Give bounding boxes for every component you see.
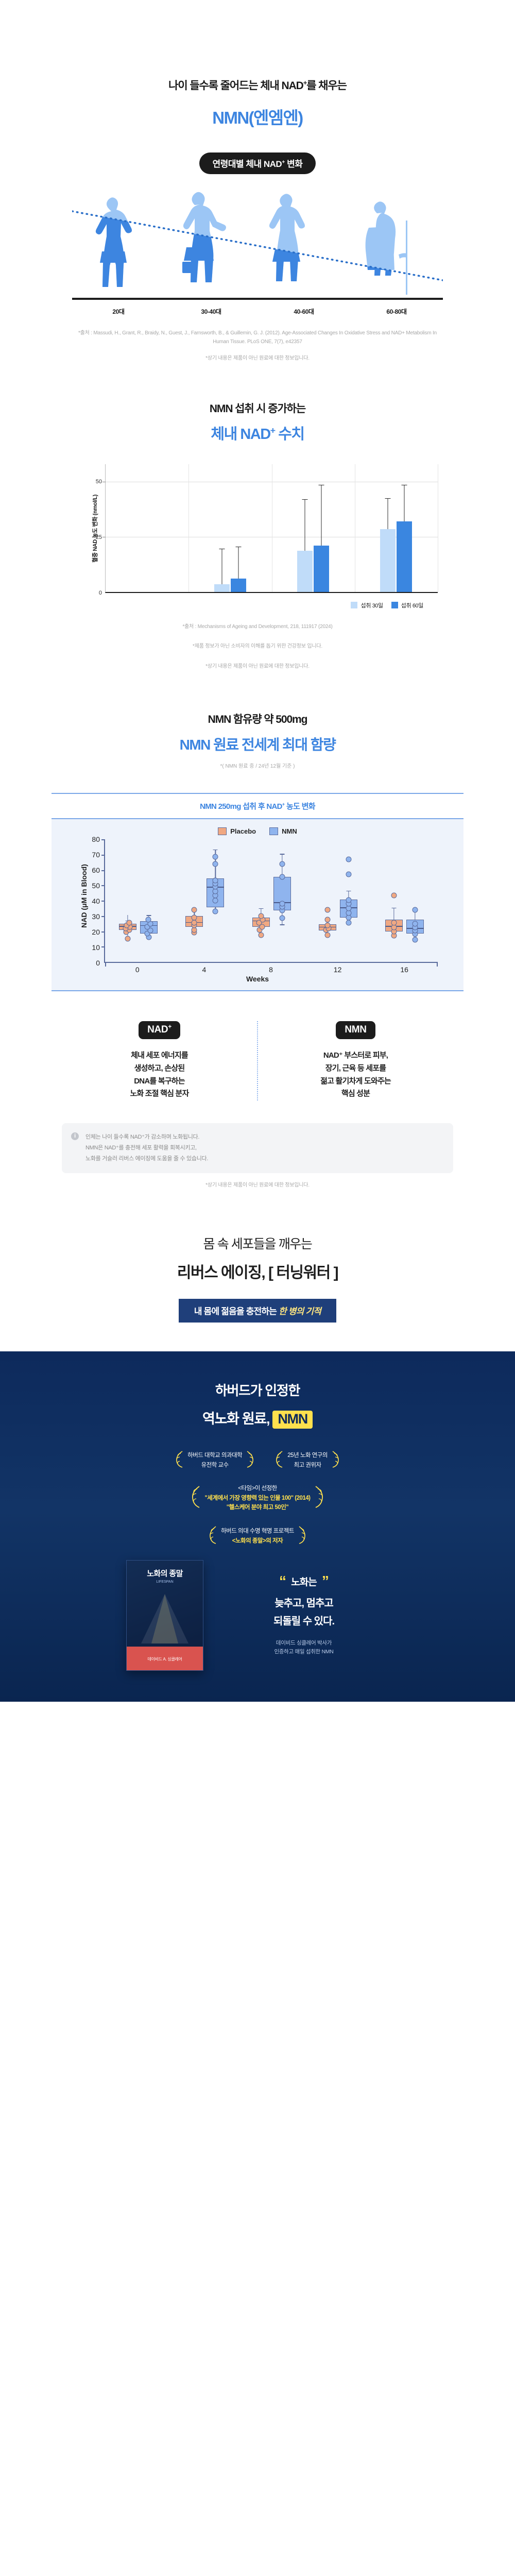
boxplot-pair [171, 839, 238, 962]
quote-line-1-wrap: “ 노화는 ” [219, 1574, 389, 1588]
reverse-aging-ribbon-wrap: 내 몸에 젊음을 충전하는 한 병의 기적 [0, 1282, 515, 1323]
note-line-3: 노화를 거슬러 리버스 에이징에 도움을 줄 수 있습니다. [85, 1154, 443, 1164]
nmn-desc-line-1: NAD⁺ 부스터로 피부, [268, 1049, 443, 1062]
age-chart-source-footnote: *출처 : Massudi, H., Grant, R., Braidy, N.… [77, 329, 438, 346]
boxplot-body: Placebo NMN NAD (μM in Blood) 80 70 60 5… [51, 819, 463, 990]
boxplot-col-nmn [207, 839, 224, 962]
boxplot-ytick-60: 60 [92, 866, 100, 874]
boxplot-ylabel: NAD (μM in Blood) [77, 839, 89, 963]
whisker-cap-upper [346, 891, 351, 891]
boxplot-ytick-20: 20 [92, 928, 100, 936]
legend-label-60d: 섭취 60일 [401, 601, 423, 609]
quote-footnote: 데이비드 싱클레어 박사가 인증하고 매일 섭취한 NMN [219, 1639, 389, 1657]
silhouette-illustration [72, 190, 443, 298]
boxplot-group-week-16 [371, 839, 438, 962]
nmn-desc-line-4: 핵심 성분 [268, 1088, 443, 1100]
data-point [125, 936, 131, 942]
age-label-60s80s: 60-80대 [350, 307, 443, 316]
data-point [192, 907, 197, 912]
boxplot-tickmark-40 [101, 901, 105, 902]
age-chart-xaxis-labels: 20대 30-40대 40-60대 60-80대 [72, 307, 443, 316]
nmn-desc-line-3: 젊고 활기차게 도와주는 [268, 1075, 443, 1088]
ribbon-highlight: 한 병의 기적 [279, 1307, 321, 1316]
data-point [126, 920, 132, 926]
boxplot-legend-nmn: NMN [269, 827, 297, 835]
hero-headline-text: 나이 들수록 줄어드는 체내 NAD [168, 80, 303, 92]
nad-increase-section: NMN 섭취 시 증가하는 체내 NAD+ 수치 혈중 NAD 농도 변화 (n… [0, 363, 515, 671]
laurel-1-line-2: 유전학 교수 [201, 1462, 229, 1468]
laurel-row-2: <타임>이 선정한 "세계에서 가장 영향력 있는 인물 100" (2014)… [62, 1484, 453, 1512]
data-point [391, 892, 397, 898]
data-point [346, 872, 351, 877]
boxplot-xaxis-start-tick [105, 962, 106, 967]
boxplot-pair [105, 839, 171, 962]
laurel-leaf-right-icon [298, 1526, 306, 1547]
boxplot-tickmark-20 [101, 931, 105, 933]
bar-errorbar-30d [221, 549, 222, 584]
bar-chart-disclaimer-2: *상기 내용은 제품이 아닌 원료에 대한 정보입니다. [0, 663, 515, 671]
compare-disclaimer: *상기 내용은 제품이 아닌 원료에 대한 정보입니다. [0, 1181, 515, 1190]
bar-ytick-0: 0 [99, 590, 102, 596]
nmn-description: NAD⁺ 부스터로 피부, 장기, 근육 등 세포를 젊고 활기차게 도와주는 … [268, 1049, 443, 1100]
laurel-credential-3: <타임>이 선정한 "세계에서 가장 영향력 있는 인물 100" (2014)… [191, 1484, 323, 1512]
book-cover: 노화의 종말 LIFESPAN 데이비드 A. 싱클레어 [126, 1560, 203, 1671]
harvard-credentials: 하버드 대학교 의과대학 유전학 교수 25년 노화 연구의 최고 권위자 [62, 1450, 453, 1547]
nad-desc-line-3: DNA를 복구하는 [72, 1075, 247, 1088]
note-line-2: NMN은 NAD⁺를 충전해 세포 활력을 회복시키고, [85, 1143, 443, 1154]
data-point [213, 854, 218, 860]
quote-line-1: 노화는 [291, 1574, 317, 1588]
data-point [324, 932, 330, 938]
legend-swatch-60d [391, 602, 398, 608]
laurel-1-line-1: 하버드 대학교 의과대학 [187, 1452, 242, 1459]
boxplot-ylabel-text: NAD (μM in Blood) [80, 857, 88, 935]
data-point [346, 920, 351, 926]
bar-holder-30d [297, 464, 313, 592]
boxplot-xtick-8: 8 [237, 965, 304, 974]
bar-group-1 [106, 464, 188, 592]
boxplot-col-nmn [273, 839, 291, 962]
whisker-cap-upper [259, 908, 263, 909]
laurel-3-text: <타임>이 선정한 "세계에서 가장 영향력 있는 인물 100" (2014)… [204, 1484, 310, 1512]
hero-headline: 나이 들수록 줄어드는 체내 NAD+를 채우는 [0, 77, 515, 93]
reverse-aging-ribbon: 내 몸에 젊음을 충전하는 한 병의 기적 [179, 1299, 336, 1323]
reverse-aging-line-1: 몸 속 세포들을 깨우는 [0, 1234, 515, 1252]
bar-chart-plot [105, 464, 438, 593]
laurel-leaf-left-icon [275, 1450, 283, 1470]
harvard-section: 하버드가 인정한 역노화 원료, NMN 하버드 대학교 의과대학 유전학 교수 [0, 1351, 515, 1702]
bar-legend-item-30d: 섭취 30일 [351, 601, 383, 609]
whisker-cap-upper [147, 915, 151, 916]
sinclair-quote: “ 노화는 ” 늦추고, 멈추고 되돌릴 수 있다. 데이비드 싱클레어 박사가… [219, 1574, 389, 1657]
bar-holder-30d [214, 464, 230, 592]
boxplot-col-nmn [140, 839, 158, 962]
bar-group-2 [188, 464, 271, 592]
whisker-cap-lower [280, 924, 284, 925]
boxplot-tickmark-10 [101, 946, 105, 947]
age-chart-pill: 연령대별 체내 NAD+ 변화 [199, 152, 316, 174]
bar-group-4 [355, 464, 438, 592]
age-chart-baseline [72, 298, 443, 300]
laurel-3-line-2: "세계에서 가장 영향력 있는 인물 100" (2014) [204, 1495, 310, 1501]
boxplot-group-week-4 [171, 839, 238, 962]
reverse-aging-line-2: 리버스 에이징, [ 터닝워터 ] [0, 1260, 515, 1282]
data-point [192, 920, 197, 926]
data-point [258, 913, 264, 919]
bar-chart-ylabel: 혈중 NAD 농도 변화 (nmol/L) [77, 464, 91, 593]
age-chart-pill-suffix: 변화 [285, 159, 303, 169]
legend-label-30d: 섭취 30일 [360, 601, 383, 609]
laurel-4-line-1: 하버드 의대 수명 혁명 프로젝트 [221, 1528, 294, 1534]
data-point [213, 898, 218, 904]
boxplot-xlabel: Weeks [51, 975, 463, 983]
bar-legend-item-60d: 섭취 60일 [391, 601, 423, 609]
nad-plus-superscript: + [270, 425, 275, 435]
silhouette-group-60s80s [366, 201, 407, 295]
boxplot-tickmark-30 [101, 916, 105, 917]
nmn-tag: NMN [336, 1021, 375, 1039]
bar-chart-source-footnote: *출처 : Mechanisms of Ageing and Developme… [0, 623, 515, 632]
harvard-line-2: 역노화 원료, NMN [0, 1408, 515, 1429]
bar-errorbar-30d [305, 499, 305, 551]
ribbon-text: 내 몸에 젊음을 충전하는 [194, 1307, 279, 1316]
boxplot-ytick-40: 40 [92, 897, 100, 905]
harvard-line-2-text: 역노화 원료, [202, 1411, 272, 1427]
boxplot-panel-title: NMN 250mg 섭취 후 NAD+ 농도 변화 [51, 794, 463, 819]
bar-errorbar-60d [321, 485, 322, 546]
nad-tag: NAD+ [139, 1021, 180, 1039]
book-author: 데이비드 A. 싱클레어 [127, 1656, 203, 1662]
boxplot-legend-placebo: Placebo [218, 827, 256, 835]
boxplot-col-nmn [406, 839, 424, 962]
bar-ytick-50: 50 [96, 479, 102, 485]
data-point [213, 861, 218, 867]
boxplot-ytick-50: 50 [92, 882, 100, 890]
laurel-row-3: 하버드 의대 수명 혁명 프로젝트 <노화의 종말>의 저자 [62, 1526, 453, 1547]
laurel-leaf-left-icon [209, 1526, 217, 1547]
data-point [279, 901, 285, 906]
laurel-4-text: 하버드 의대 수명 혁명 프로젝트 <노화의 종말>의 저자 [221, 1527, 294, 1546]
age-label-30s40s: 30-40대 [165, 307, 257, 316]
boxplot-col-placebo [319, 839, 336, 962]
nad-tag-label: NAD [147, 1024, 168, 1035]
compare-columns: NAD+ 체내 세포 에너지를 생성하고, 손상된 DNA를 복구하는 노화 조… [62, 1021, 453, 1100]
bar-30d [214, 584, 230, 592]
boxplot-xtick-0: 0 [104, 965, 171, 974]
boxplot-pair [238, 839, 304, 962]
age-chart-pill-label: 연령대별 체내 NAD [213, 159, 282, 169]
laurel-leaf-right-icon [332, 1450, 340, 1470]
quote-footnote-line-1: 데이비드 싱클레어 박사가 [276, 1640, 332, 1646]
boxplot-groups [105, 839, 438, 962]
age-label-20s: 20대 [72, 307, 165, 316]
laurel-3-line-3: "헬스케어 분야 최고 50인" [227, 1504, 289, 1511]
quote-footnote-line-2: 인증하고 매일 섭취한 NMN [274, 1649, 333, 1655]
boxplot-xaxis-end-tick [437, 962, 438, 967]
boxplot-tickmark-70 [101, 855, 105, 856]
nmn-500-subnote: *( NMN 원료 중 / 24년 12월 기준 ) [0, 761, 515, 769]
silhouette-group-40s60s [269, 194, 305, 281]
book-subtitle: LIFESPAN [127, 1580, 203, 1584]
nad-desc-line-1: 체내 세포 에너지를 [72, 1049, 247, 1062]
boxplot-ytick-30: 30 [92, 912, 100, 921]
boxplot-group-week-8 [238, 839, 304, 962]
whisker-upper [393, 908, 394, 920]
whisker-cap-upper [391, 908, 396, 908]
boxplot-pair [371, 839, 438, 962]
data-point [213, 878, 218, 884]
age-chart-pill-wrap: 연령대별 체내 NAD+ 변화 [0, 152, 515, 174]
bar-60d [397, 521, 412, 592]
laurel-leaf-left-icon [175, 1450, 183, 1470]
nad-plus-superscript: + [168, 1024, 171, 1030]
book-beam-inner [151, 1594, 178, 1643]
boxplot-xticks: 0 4 8 12 16 [77, 965, 438, 974]
book-and-quote: 노화의 종말 LIFESPAN 데이비드 A. 싱클레어 “ 노화는 ” 늦추고… [62, 1560, 453, 1671]
quote-close-mark: ” [322, 1577, 329, 1586]
nad-nmn-compare-section: NAD+ 체내 세포 에너지를 생성하고, 손상된 DNA를 복구하는 노화 조… [0, 991, 515, 1190]
boxplot-col-placebo [252, 839, 270, 962]
boxplot-tickmark-60 [101, 870, 105, 871]
laurel-2-line-2: 최고 권위자 [294, 1462, 321, 1468]
bar-60d [314, 546, 329, 592]
boxplot-col-placebo [385, 839, 403, 962]
boxplot-xtick-4: 4 [171, 965, 238, 974]
hero-title: NMN(엔엠엔) [0, 104, 515, 129]
bar-chart-disclaimer-1: *제품 정보가 아닌 소비자의 이해를 돕기 위한 건강정보 입니다. [0, 642, 515, 651]
age-nad-chart-section: 연령대별 체내 NAD+ 변화 [0, 152, 515, 363]
bar-holder-60d [314, 464, 329, 592]
silhouette-svg [72, 190, 443, 298]
nmn-500-title-2: NMN 원료 전세계 최대 함량 [0, 734, 515, 754]
nmn-highlight-badge: NMN [272, 1411, 313, 1429]
data-point [412, 907, 418, 912]
hero-headline-suffix: 를 채우는 [306, 80, 347, 92]
boxplot-xtick-12: 12 [304, 965, 371, 974]
nad-bar-chart: 혈중 NAD 농도 변화 (nmol/L) 50 25 0 [77, 464, 438, 593]
boxplot-ytick-70: 70 [92, 851, 100, 859]
legend-label-nmn: NMN [282, 827, 297, 835]
nad-boxplot-panel: NMN 250mg 섭취 후 NAD+ 농도 변화 Placebo NMN NA… [51, 793, 463, 991]
bar-vgridline-4 [438, 464, 438, 592]
harvard-line-1: 하버드가 인정한 [0, 1380, 515, 1399]
data-point [192, 914, 197, 920]
data-point [412, 921, 418, 926]
bar-30d [297, 551, 313, 591]
age-label-40s60s: 40-60대 [257, 307, 350, 316]
nmn-500mg-section: NMN 함유량 약 500mg NMN 원료 전세계 최대 함량 *( NMN … [0, 671, 515, 769]
nmn-desc-line-2: 장기, 근육 등 세포를 [268, 1062, 443, 1075]
compare-col-nmn: NMN NAD⁺ 부스터로 피부, 장기, 근육 등 세포를 젊고 활기차게 도… [258, 1021, 453, 1100]
data-point [279, 861, 285, 867]
nad-desc-line-2: 생성하고, 손상된 [72, 1062, 247, 1075]
data-point [412, 937, 418, 942]
data-point [324, 917, 330, 923]
data-point [324, 922, 330, 928]
legend-label-placebo: Placebo [230, 827, 256, 835]
bar-section-title-2: 체내 NAD+ 수치 [0, 422, 515, 444]
bar-chart-yticks: 50 25 0 [91, 464, 105, 593]
legend-swatch-placebo [218, 827, 227, 835]
boxplot-chart: NAD (μM in Blood) 80 70 60 50 40 30 20 1… [77, 839, 438, 963]
laurel-4-line-2: <노화의 종말>의 저자 [232, 1538, 283, 1544]
boxplot-tickmark-50 [101, 885, 105, 886]
laurel-leaf-right-icon [315, 1485, 324, 1511]
boxplot-legend: Placebo NMN [51, 827, 463, 835]
data-point [258, 932, 264, 938]
boxplot-tickmark-80 [101, 839, 105, 840]
laurel-credential-4: 하버드 의대 수명 혁명 프로젝트 <노화의 종말>의 저자 [209, 1526, 306, 1547]
boxplot-pair [305, 839, 371, 962]
laurel-leaf-left-icon [191, 1485, 200, 1511]
boxplot-title-text: NMN 250mg 섭취 후 NAD [200, 802, 282, 811]
whisker-cap-upper [213, 850, 218, 850]
laurel-2-text: 25년 노화 연구의 최고 권위자 [287, 1451, 328, 1470]
data-point [279, 874, 285, 879]
bar-group-3 [272, 464, 355, 592]
quote-open-mark: “ [279, 1577, 286, 1586]
data-point [346, 897, 351, 903]
bar-ytick-25: 25 [96, 534, 102, 540]
data-point [346, 856, 351, 862]
boxplot-group-week-0 [105, 839, 171, 962]
boxplot-col-placebo [119, 839, 136, 962]
bar-section-title-2-suffix: 수치 [275, 426, 304, 443]
silhouette-fill-overlay [96, 192, 396, 287]
boxplot-group-week-12 [305, 839, 371, 962]
reverse-aging-section: 몸 속 세포들을 깨우는 리버스 에이징, [ 터닝워터 ] 내 몸에 젊음을 … [0, 1190, 515, 1351]
hero-section: 나이 들수록 줄어드는 체내 NAD+를 채우는 NMN(엔엠엔) [0, 0, 515, 129]
info-icon: i [71, 1132, 79, 1140]
legend-swatch-30d [351, 602, 357, 608]
nad-description: 체내 세포 에너지를 생성하고, 손상된 DNA를 복구하는 노화 조절 핵심 … [72, 1049, 247, 1100]
bar-holder-60d [397, 464, 412, 592]
boxplot-plot-area [104, 839, 438, 963]
bar-60d [231, 579, 246, 592]
laurel-row-1: 하버드 대학교 의과대학 유전학 교수 25년 노화 연구의 최고 권위자 [62, 1450, 453, 1470]
laurel-3-line-1: <타임>이 선정한 [238, 1485, 277, 1492]
bar-errorbar-60d [238, 547, 238, 579]
data-point [213, 908, 218, 914]
quote-line-3: 되돌릴 수 있다. [219, 1613, 389, 1628]
bar-section-title-2-text: 체내 NAD [211, 426, 270, 443]
boxplot-ytick-0: 0 [96, 959, 100, 967]
laurel-credential-2: 25년 노화 연구의 최고 권위자 [275, 1450, 340, 1470]
bar-30d [380, 529, 396, 592]
book-title: 노화의 종말 [127, 1568, 203, 1579]
info-note-box: i 인체는 나이 들수록 NAD⁺가 감소하며 노화됩니다. NMN은 NAD⁺… [62, 1123, 453, 1173]
quote-line-2: 늦추고, 멈추고 [219, 1595, 389, 1609]
bar-errorbar-60d [404, 485, 405, 521]
bar-holder-30d [380, 464, 396, 592]
note-line-1: 인체는 나이 들수록 NAD⁺가 감소하며 노화됩니다. [85, 1132, 443, 1143]
laurel-1-text: 하버드 대학교 의과대학 유전학 교수 [187, 1451, 242, 1470]
bar-holder-60d [231, 464, 246, 592]
data-point [391, 920, 397, 926]
boxplot-ytick-10: 10 [92, 943, 100, 952]
bar-chart-groups [106, 464, 438, 592]
boxplot-col-placebo [185, 839, 203, 962]
boxplot-col-nmn [340, 839, 357, 962]
boxplot-ytick-80: 80 [92, 835, 100, 843]
age-chart-disclaimer: *상기 내용은 제품이 아닌 원료에 대한 정보입니다. [0, 354, 515, 363]
nmn-500-title-1: NMN 함유량 약 500mg [0, 711, 515, 726]
laurel-leaf-right-icon [246, 1450, 254, 1470]
bar-section-title-1: NMN 섭취 시 증가하는 [0, 400, 515, 416]
legend-swatch-nmn [269, 827, 278, 835]
nad-desc-line-4: 노화 조절 핵심 분자 [72, 1088, 247, 1100]
compare-col-nad: NAD+ 체내 세포 에너지를 생성하고, 손상된 DNA를 복구하는 노화 조… [62, 1021, 257, 1100]
whisker-cap-upper [280, 854, 284, 854]
boxplot-title-suffix: 농도 변화 [285, 802, 315, 811]
laurel-2-line-1: 25년 노화 연구의 [287, 1452, 328, 1459]
bar-chart-legend: 섭취 30일 섭취 60일 [77, 601, 438, 609]
data-point [146, 917, 151, 923]
data-point [279, 916, 285, 921]
bar-errorbar-30d [388, 498, 388, 529]
boxplot-xtick-16: 16 [371, 965, 438, 974]
data-point [324, 907, 330, 912]
laurel-credential-1: 하버드 대학교 의과대학 유전학 교수 [175, 1450, 254, 1470]
